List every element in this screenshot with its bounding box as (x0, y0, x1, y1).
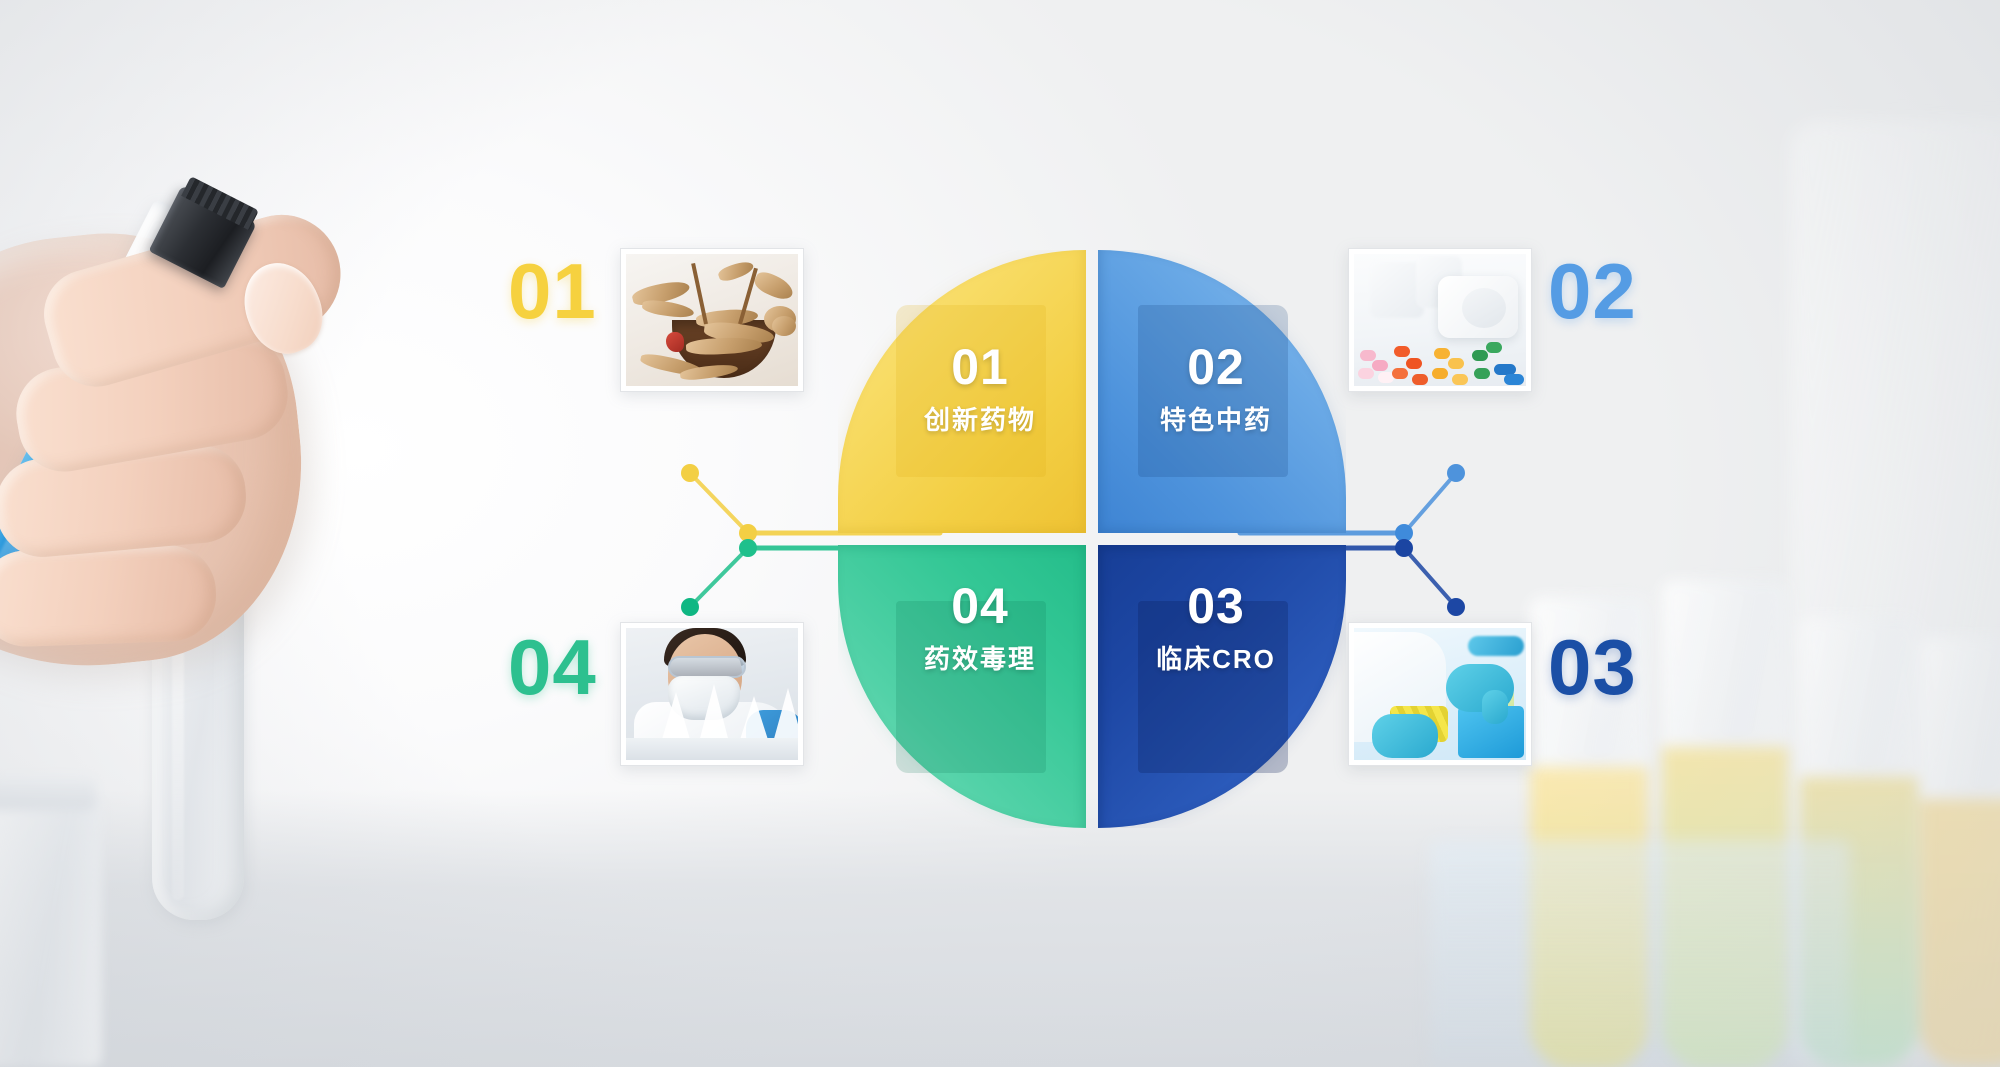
segment-03[interactable]: 03 临床CRO (1098, 545, 1346, 828)
segment-02-text: 02 特色中药 (1126, 342, 1306, 437)
segment-02[interactable]: 02 特色中药 (1098, 250, 1346, 533)
infographic-stage: 01 创新药物 02 特色中药 04 (0, 0, 2000, 1067)
outer-number-04: 04 (508, 628, 597, 706)
thumbnail-02[interactable] (1348, 248, 1532, 392)
herbal-medicine-photo (626, 254, 798, 386)
segment-01-number: 01 (890, 342, 1070, 393)
outer-number-03: 03 (1548, 628, 1637, 706)
segment-01[interactable]: 01 创新药物 (838, 250, 1086, 533)
segment-01-label: 创新药物 (890, 400, 1070, 437)
segment-02-fill: 02 特色中药 (1098, 250, 1346, 533)
segment-03-fill: 03 临床CRO (1098, 545, 1346, 828)
outer-number-02: 02 (1548, 252, 1637, 330)
quadrant-diagram: 01 创新药物 02 特色中药 04 (0, 0, 2000, 1067)
segment-04-fill: 04 药效毒理 (838, 545, 1086, 828)
thumbnail-01[interactable] (620, 248, 804, 392)
segment-03-number: 03 (1126, 581, 1306, 632)
scientist-lab-photo (626, 628, 798, 760)
segment-04[interactable]: 04 药效毒理 (838, 545, 1086, 828)
thumbnail-03[interactable] (1348, 622, 1532, 766)
circle-chart: 01 创新药物 02 特色中药 04 (838, 250, 1346, 828)
segment-04-text: 04 药效毒理 (890, 581, 1070, 676)
hand-finger (0, 544, 218, 648)
clinical-lab-photo (1354, 628, 1526, 760)
segment-01-fill: 01 创新药物 (838, 250, 1086, 533)
segment-03-text: 03 临床CRO (1126, 581, 1306, 676)
outer-number-01: 01 (508, 252, 597, 330)
segment-01-text: 01 创新药物 (890, 342, 1070, 437)
segment-02-number: 02 (1126, 342, 1306, 393)
segment-04-number: 04 (890, 581, 1070, 632)
segment-02-label: 特色中药 (1126, 400, 1306, 437)
segment-04-label: 药效毒理 (890, 639, 1070, 676)
segment-03-label: 临床CRO (1126, 639, 1306, 676)
pills-bottle-photo (1354, 254, 1526, 386)
thumbnail-04[interactable] (620, 622, 804, 766)
